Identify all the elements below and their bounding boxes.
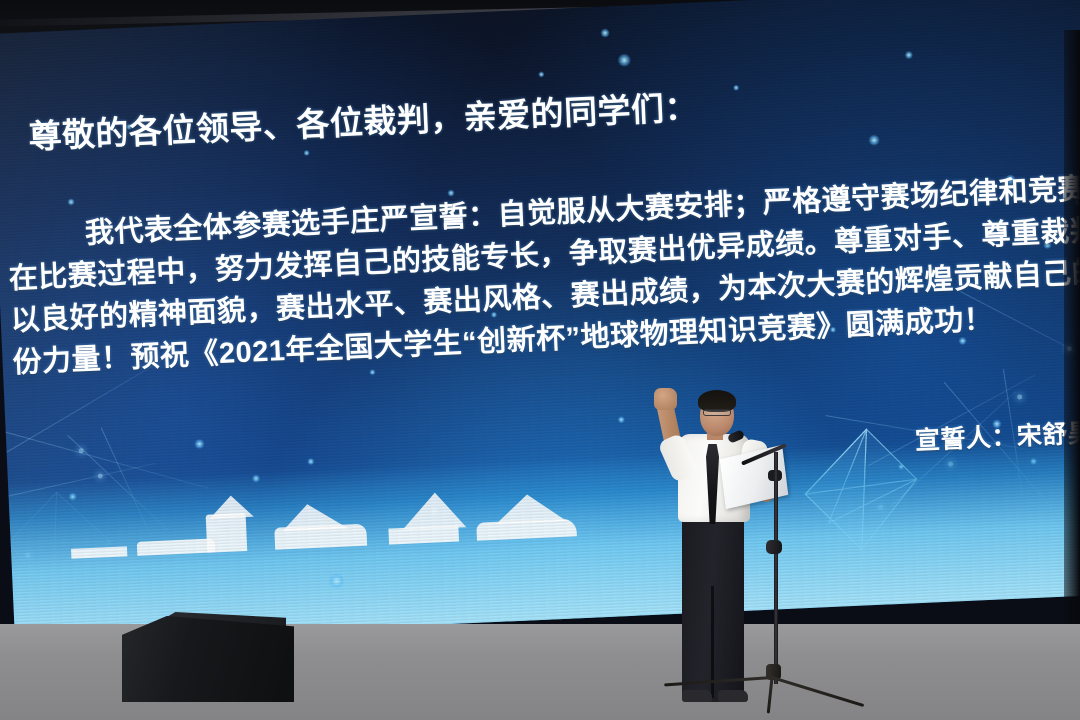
slide-body-line-1: 我代表全体参赛选手庄严宣誓：自觉服从大赛安排；严格遵守赛场纪律和竞赛规则。 — [84, 161, 1080, 252]
slide-body-line-4: 份力量！预祝《2021年全国大学生“创新杯”地球物理知识竞赛》圆满成功！ — [12, 296, 994, 382]
microphone-height-adjuster — [766, 540, 782, 554]
person-raised-fist — [654, 388, 677, 410]
stage-photo-scene: 尊敬的各位领导、各位裁判，亲爱的同学们： 我代表全体参赛选手庄严宣誓：自觉服从大… — [0, 0, 1080, 720]
led-backdrop-screen: 尊敬的各位领导、各位裁判，亲爱的同学们： 我代表全体参赛选手庄严宣誓：自觉服从大… — [0, 0, 1080, 643]
microphone-stand-pole — [774, 452, 778, 684]
slide-body-line-2: 在比赛过程中，努力发挥自己的技能专长，争取赛出优异成绩。尊重对手、尊重裁判， — [8, 205, 1080, 297]
stage-monitor-speaker — [122, 616, 294, 702]
right-wall-shadow — [1064, 30, 1080, 630]
slide-body-line-3: 以良好的精神面貌，赛出水平、赛出风格、赛出成绩，为本次大赛的辉煌贡献自己的一 — [10, 247, 1080, 339]
slide-greeting-line: 尊敬的各位领导、各位裁判，亲爱的同学们： — [27, 81, 698, 159]
person-shoe-left — [682, 690, 712, 702]
eyeglasses-icon — [703, 409, 731, 416]
screen-horizon-graphic — [8, 434, 1080, 643]
person-shoe-right — [718, 690, 748, 702]
